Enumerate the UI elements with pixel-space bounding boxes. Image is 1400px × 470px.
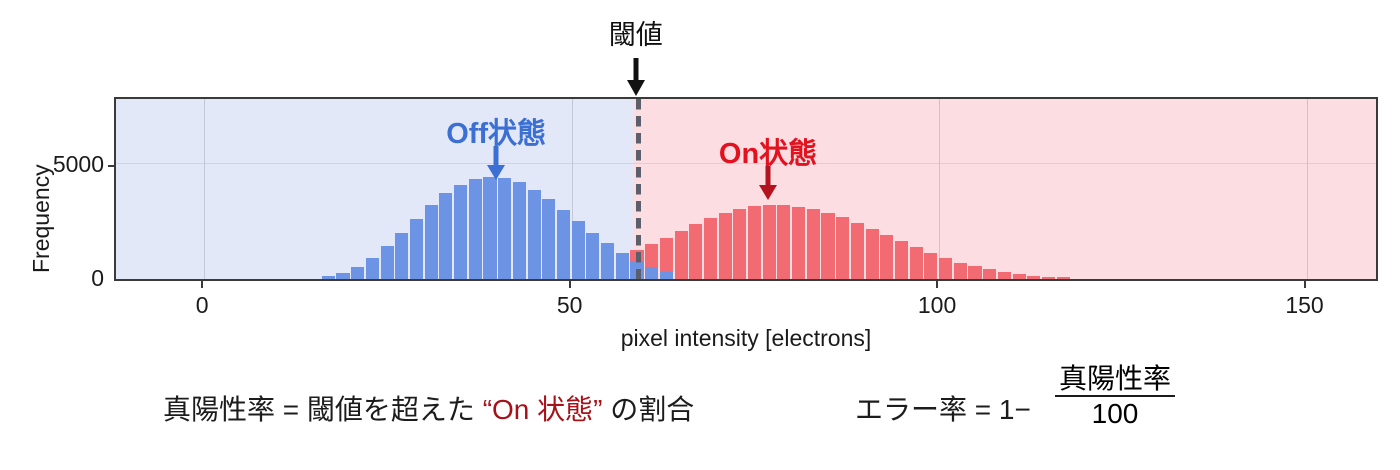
- caption-right-lead: エラー率 = 1−: [855, 394, 1031, 425]
- threshold-annotation-label: 閾値: [536, 13, 736, 52]
- histogram-bar: [513, 182, 526, 279]
- histogram-bar: [410, 219, 423, 279]
- histogram-bar: [498, 178, 511, 279]
- caption-left-part2: の割合: [602, 394, 694, 425]
- caption-error-rate: エラー率 = 1−: [855, 388, 1031, 428]
- histogram-bar: [528, 190, 541, 279]
- x-axis-label: pixel intensity [electrons]: [114, 325, 1378, 352]
- histogram-bar: [425, 205, 438, 279]
- x-tick-label-50: 50: [510, 292, 630, 319]
- x-tick-mark-150: [1304, 281, 1306, 288]
- histogram-bar: [660, 272, 673, 279]
- y-tick-label-0: 0: [0, 265, 104, 292]
- x-tick-label-100: 100: [877, 292, 997, 319]
- x-tick-label-150: 150: [1245, 292, 1365, 319]
- y-tick-label-5000: 5000: [0, 151, 104, 178]
- histogram-bar: [601, 243, 614, 279]
- threshold-arrow-icon: [625, 58, 647, 96]
- histogram-bar: [395, 233, 408, 279]
- fraction-denominator: 100: [1055, 398, 1175, 429]
- caption-true-positive-rate: 真陽性率 = 閾値を超えた “On 状態” の割合: [163, 388, 694, 428]
- histogram-bar: [454, 185, 467, 279]
- figure-root: 閾値 Frequency 0 5000 Off状態 On状態 050100150…: [0, 0, 1400, 470]
- plot-area: [114, 97, 1378, 281]
- histogram-bar: [645, 267, 658, 279]
- histogram-bar: [557, 210, 570, 279]
- fraction-rule: [1055, 395, 1175, 397]
- x-tick-mark-100: [936, 281, 938, 288]
- histogram-bar: [572, 221, 585, 279]
- fraction-numerator: 真陽性率: [1055, 363, 1175, 394]
- error-rate-fraction: 真陽性率 100: [1055, 363, 1175, 430]
- histogram-bar: [351, 267, 364, 279]
- x-tick-label-0: 0: [142, 292, 262, 319]
- threshold-dashed-line: [636, 99, 641, 279]
- histogram-bar: [542, 199, 555, 279]
- on-state-arrow-icon: [758, 166, 778, 200]
- histogram-bar: [381, 246, 394, 279]
- caption-left-part1: 真陽性率 = 閾値を超えた: [163, 394, 483, 425]
- histogram-bar: [439, 193, 452, 279]
- histogram-bar: [366, 258, 379, 279]
- caption-left-highlight: “On 状態”: [483, 394, 603, 425]
- histogram-bar: [336, 273, 349, 279]
- histogram-bar: [469, 179, 482, 279]
- histogram-bars-off-state: [116, 99, 1376, 279]
- y-axis-label: Frequency: [28, 164, 55, 273]
- histogram-bar: [322, 276, 335, 279]
- off-state-arrow-icon: [486, 146, 506, 180]
- histogram-bar: [586, 233, 599, 279]
- x-tick-mark-0: [201, 281, 203, 288]
- histogram-bar: [616, 253, 629, 279]
- histogram-bar: [483, 177, 496, 279]
- x-tick-mark-50: [569, 281, 571, 288]
